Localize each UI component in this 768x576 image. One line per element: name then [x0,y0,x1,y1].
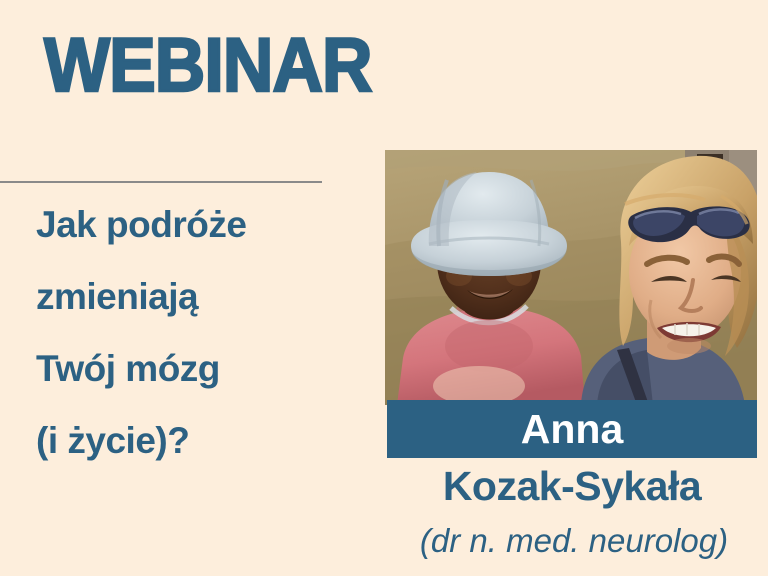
subtitle-line-4: (i życie)? [36,422,376,459]
webinar-poster: WEBINAR Jak podróże zmieniają Twój mózg … [0,0,768,576]
speaker-last-name: Kozak-Sykała [387,466,757,507]
divider [0,181,322,183]
subtitle-line-3: Twój mózg [36,350,376,387]
speaker-credentials: (dr n. med. neurolog) [387,524,761,557]
subtitle-block: Jak podróże zmieniają Twój mózg (i życie… [36,206,376,494]
speaker-name-band: Anna [387,400,757,458]
subtitle-line-1: Jak podróże [36,206,376,243]
page-title: WEBINAR [44,28,372,104]
subtitle-line-2: zmieniają [36,278,376,315]
speaker-first-name: Anna [521,409,624,450]
speaker-photo [385,150,757,405]
